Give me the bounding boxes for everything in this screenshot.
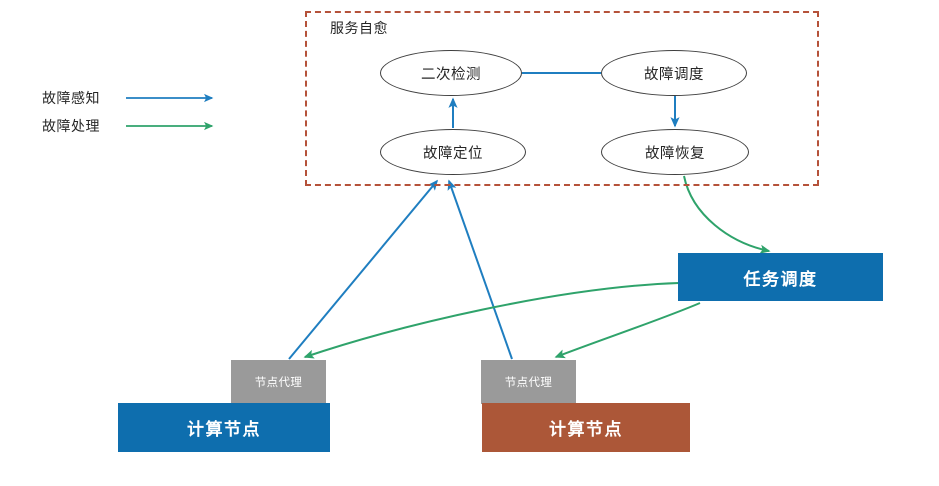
node-task-scheduler[interactable]: 任务调度 bbox=[678, 253, 883, 301]
legend-arrow-right-icon bbox=[124, 91, 224, 105]
node-label-agent-left: 节点代理 bbox=[255, 374, 303, 390]
node-secondary-check[interactable]: 二次检测 bbox=[380, 50, 522, 96]
node-fault-locate[interactable]: 故障定位 bbox=[380, 129, 526, 175]
edge-task-scheduler-to-agent-right bbox=[556, 303, 700, 357]
node-label-compute-node-right: 计算节点 bbox=[549, 415, 623, 440]
edge-fault-recover-to-task-scheduler bbox=[684, 176, 769, 251]
node-label-fault-dispatch: 故障调度 bbox=[644, 63, 704, 84]
legend-item-fault-handle: 故障处理 bbox=[42, 112, 224, 140]
legend-item-fault-sense: 故障感知 bbox=[42, 84, 224, 112]
diagram-canvas: 故障感知 故障处理 服务自愈 二次检测 故障调度 故障定位 故障恢复 任务调度 … bbox=[0, 0, 939, 486]
legend: 故障感知 故障处理 bbox=[42, 84, 224, 140]
node-label-fault-recover: 故障恢复 bbox=[645, 142, 705, 163]
group-label-service-self-healing: 服务自愈 bbox=[330, 18, 388, 38]
node-label-secondary-check: 二次检测 bbox=[421, 63, 481, 84]
node-compute-node-right[interactable]: 计算节点 bbox=[482, 403, 690, 452]
node-label-task-scheduler: 任务调度 bbox=[744, 265, 818, 290]
edge-task-scheduler-to-agent-left bbox=[305, 283, 679, 357]
node-label-agent-right: 节点代理 bbox=[505, 374, 553, 390]
node-fault-dispatch[interactable]: 故障调度 bbox=[601, 50, 747, 96]
edge-agent-left-to-fault-locate bbox=[289, 181, 437, 359]
legend-arrow-right-icon bbox=[124, 119, 224, 133]
node-label-compute-node-left: 计算节点 bbox=[187, 415, 261, 440]
node-fault-recover[interactable]: 故障恢复 bbox=[601, 129, 749, 175]
edge-agent-right-to-fault-locate bbox=[449, 181, 512, 359]
node-agent-left[interactable]: 节点代理 bbox=[231, 360, 326, 404]
legend-label-fault-handle: 故障处理 bbox=[42, 116, 124, 136]
node-compute-node-left[interactable]: 计算节点 bbox=[118, 403, 330, 452]
legend-label-fault-sense: 故障感知 bbox=[42, 88, 124, 108]
node-label-fault-locate: 故障定位 bbox=[423, 142, 483, 163]
node-agent-right[interactable]: 节点代理 bbox=[481, 360, 576, 404]
